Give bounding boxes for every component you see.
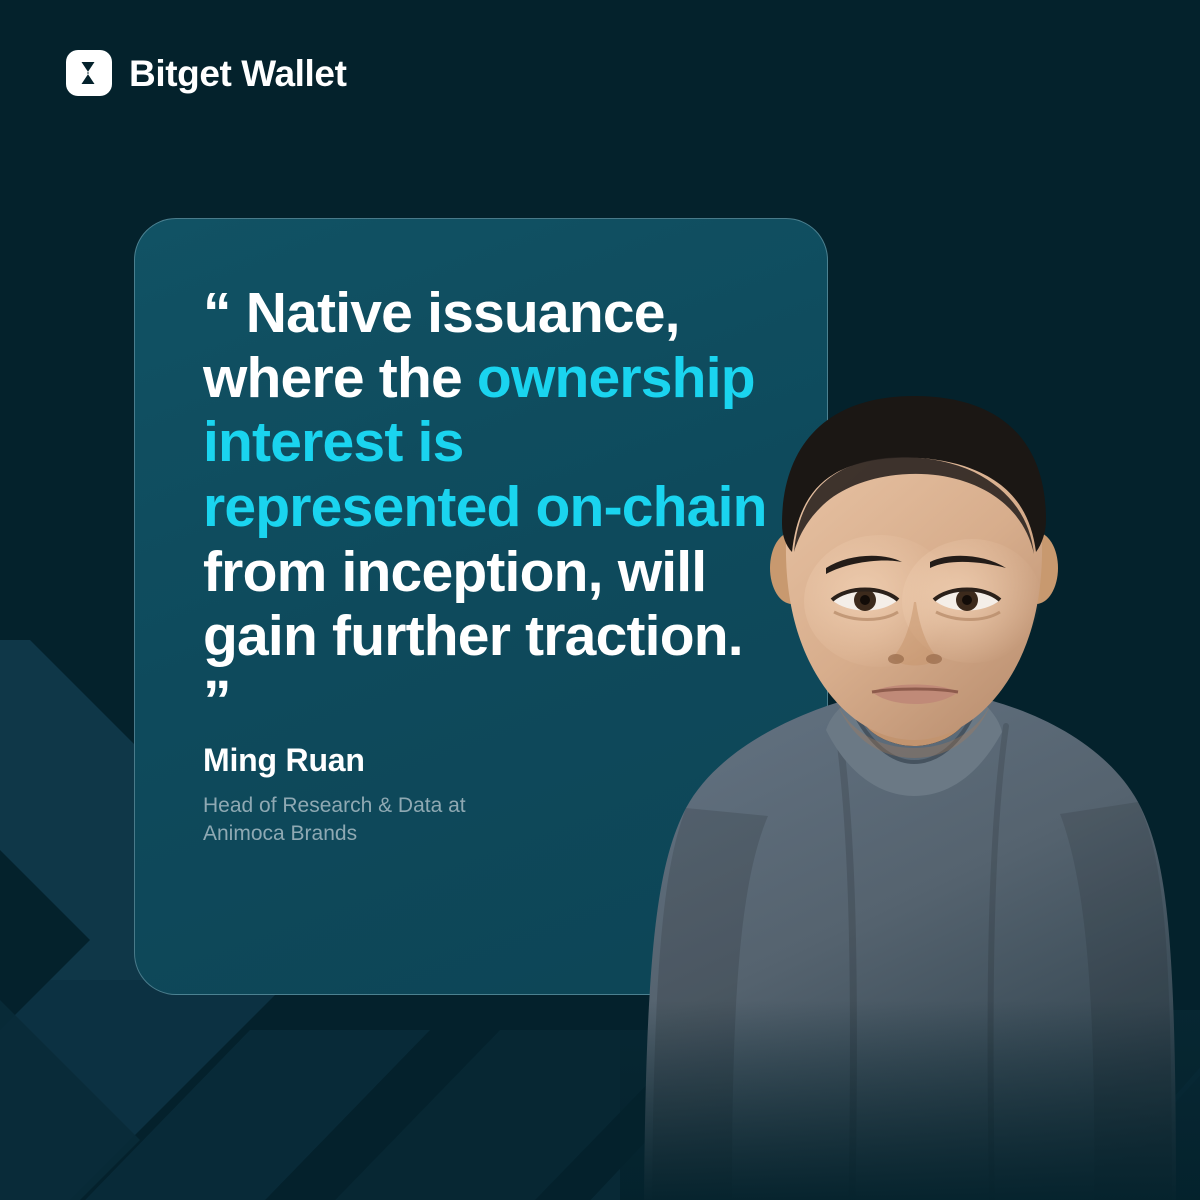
brand-lockup: Bitget Wallet xyxy=(66,50,347,96)
author-name: Ming Ruan xyxy=(203,743,787,778)
author-role-line-1: Head of Research & Data at xyxy=(203,794,466,817)
brand-name: Bitget Wallet xyxy=(129,55,347,92)
quote-text: “ Native issuance, where the ownership i… xyxy=(203,281,783,734)
close-quote-mark: ” xyxy=(203,669,231,733)
portrait-alt-text: Portrait of Ming Ruan wearing a grey t-s… xyxy=(0,0,1,1)
author-role-line-2: Animoca Brands xyxy=(203,822,357,845)
quote-body: “ Native issuance, where the ownership i… xyxy=(203,281,787,734)
quote-segment-plain-2: from inception, will gain further tracti… xyxy=(203,540,743,669)
author-role: Head of Research & Data atAnimoca Brands xyxy=(203,792,563,848)
quote-card: “ Native issuance, where the ownership i… xyxy=(134,218,828,995)
bitget-chevron-icon xyxy=(66,50,112,96)
quote-graphic-canvas: Bitget Wallet “ Native issuance, where t… xyxy=(0,0,1200,1200)
open-quote-mark: “ xyxy=(203,281,231,345)
attribution-block: Ming Ruan Head of Research & Data atAnim… xyxy=(203,743,787,848)
